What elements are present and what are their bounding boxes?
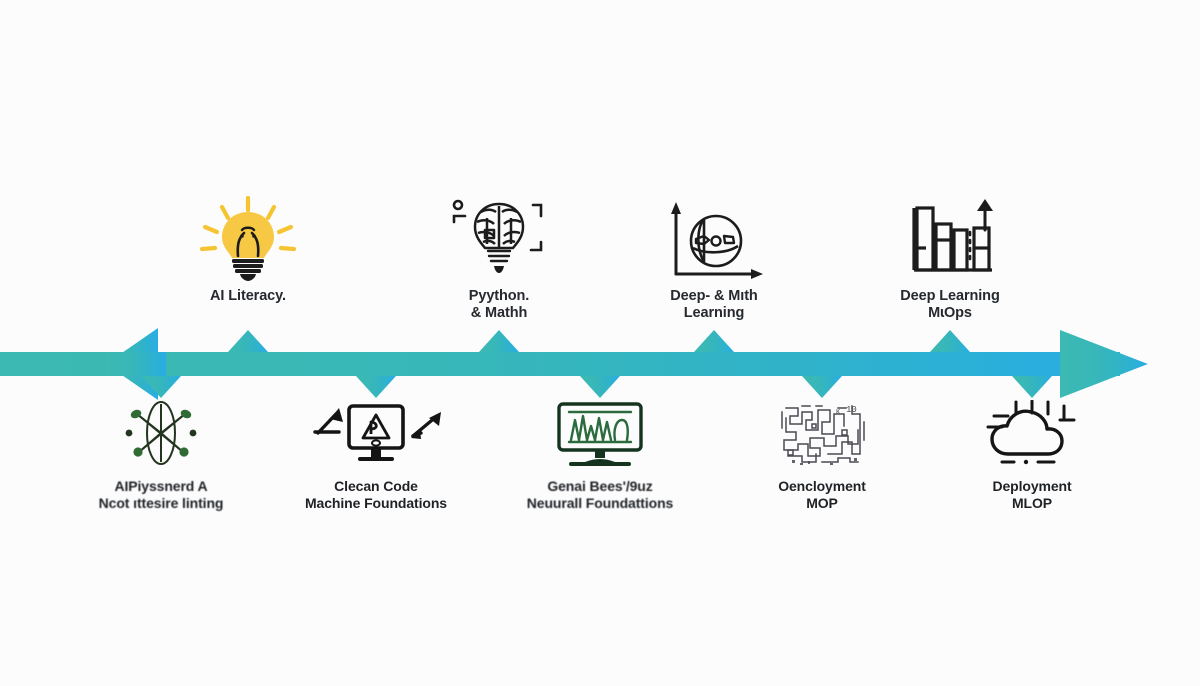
cloud-rain-icon	[927, 400, 1137, 470]
roadmap-canvas: AI Literacy.	[0, 0, 1200, 686]
milestone-ai-literacy[interactable]: AI Literacy.	[143, 196, 353, 305]
milestone-label: Clecan Code Machine Foundations	[271, 478, 481, 511]
globe-axes-icon	[609, 196, 819, 282]
milestone-label: Deployment MLOP	[927, 478, 1137, 511]
milestone-genai-neural[interactable]: Genai Bees'/9uz Neuurall Foundattions	[495, 400, 705, 511]
milestone-label: Deep- & Mıth Learning	[609, 288, 819, 322]
milestone-deep-math-learning[interactable]: Deep- & Mıth Learning	[609, 196, 819, 322]
qr-circuit-icon: 10 K	[717, 400, 927, 470]
svg-text:10: 10	[846, 405, 857, 415]
milestone-label: Deep Learning MɩOps	[845, 288, 1055, 322]
milestone-label: AIPiyssnerd A Ncot ıttesire linting	[56, 478, 266, 511]
milestone-deployment-mlop[interactable]: Deployment MLOP	[927, 400, 1137, 511]
milestone-deep-learning-mlops[interactable]: Deep Learning MɩOps	[845, 196, 1055, 322]
brain-bulb-icon	[394, 196, 604, 282]
milestone-clean-code[interactable]: Clecan Code Machine Foundations	[271, 400, 481, 511]
bar-chart-growth-icon	[845, 196, 1055, 282]
monitor-waveform-icon	[495, 400, 705, 470]
milestone-ai-physics-nodes[interactable]: AIPiyssnerd A Ncot ıttesire linting	[56, 400, 266, 511]
monitor-chart-icon	[271, 400, 481, 470]
milestone-label: Genai Bees'/9uz Neuurall Foundattions	[495, 478, 705, 511]
timeline-arrow-band	[0, 0, 1200, 686]
svg-text:K: K	[836, 409, 841, 417]
milestone-label: Pyython. & Mathh	[394, 288, 604, 322]
milestone-deployment-mop[interactable]: 10 K Oencloyment MOP	[717, 400, 927, 511]
milestone-python-math[interactable]: Pyython. & Mathh	[394, 196, 604, 322]
milestone-label: AI Literacy.	[143, 288, 353, 305]
milestone-label: Oencloyment MOP	[717, 478, 927, 511]
atom-network-icon	[56, 400, 266, 470]
lightbulb-icon	[143, 196, 353, 282]
